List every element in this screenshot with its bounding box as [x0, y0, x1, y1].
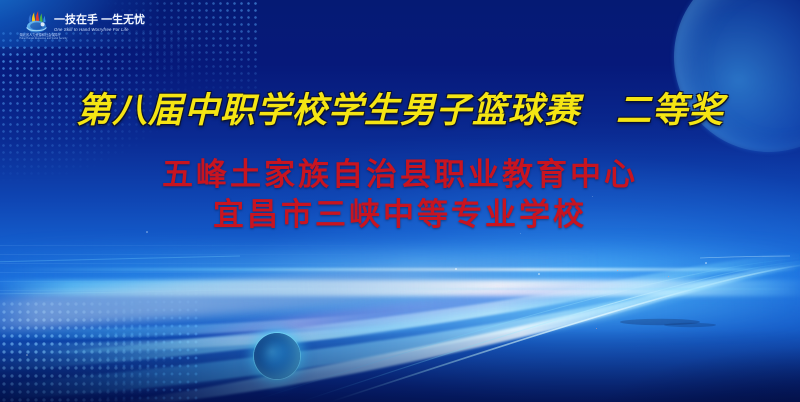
halftone-dots-bottomleft [0, 300, 230, 402]
diagonal-grey-streak [0, 253, 600, 334]
award-banner: 湖北省人力资源和社会保障厅 Hubei Human Resources and … [0, 0, 800, 402]
sparkle-speck [538, 273, 540, 275]
sparkle-speck [668, 276, 669, 277]
sparkle-speck [26, 354, 28, 356]
award-recipient-block: 五峰土家族自治县职业教育中心 宜昌市三峡中等专业学校 [0, 155, 800, 235]
logo-wordmark: 一技在手 一生无忧 One Skill In Hand Worryfree Fo… [54, 15, 145, 32]
logo-slogan-cn-part1: 一技在手 [54, 14, 98, 26]
sparkle-speck [705, 262, 707, 264]
sparkle-speck [596, 328, 597, 329]
recipient-line-2: 宜昌市三峡中等专业学校 [0, 195, 800, 235]
logo-band: 湖北省人力资源和社会保障厅 Hubei Human Resources and … [0, 0, 158, 47]
logo-org-name-en: Hubei Human Resources and Social Securit… [20, 37, 54, 40]
light-beam-thin [0, 268, 800, 271]
light-beam-upper [0, 288, 800, 290]
logo-slogan-cn: 一技在手 一生无忧 [54, 15, 145, 26]
light-beam-halo [0, 252, 800, 322]
sparkle-speck [455, 268, 457, 270]
logo-slogan-cn-part2: 一生无忧 [101, 14, 145, 26]
scanline-texture [0, 245, 430, 295]
light-beam-main [0, 280, 800, 296]
halftone-dots-bottomright [0, 290, 200, 402]
skill-flame-emblem-icon: 湖北省人力资源和社会保障厅 Hubei Human Resources and … [23, 9, 50, 39]
main-sphere [254, 333, 300, 379]
sparkle-speck [617, 270, 618, 271]
logo-slogan-en: One Skill In Hand Worryfree For Life [54, 28, 145, 32]
recipient-line-1: 五峰土家族自治县职业教育中心 [0, 155, 800, 195]
award-title: 第八届中职学校学生男子篮球赛 二等奖 [0, 82, 800, 133]
